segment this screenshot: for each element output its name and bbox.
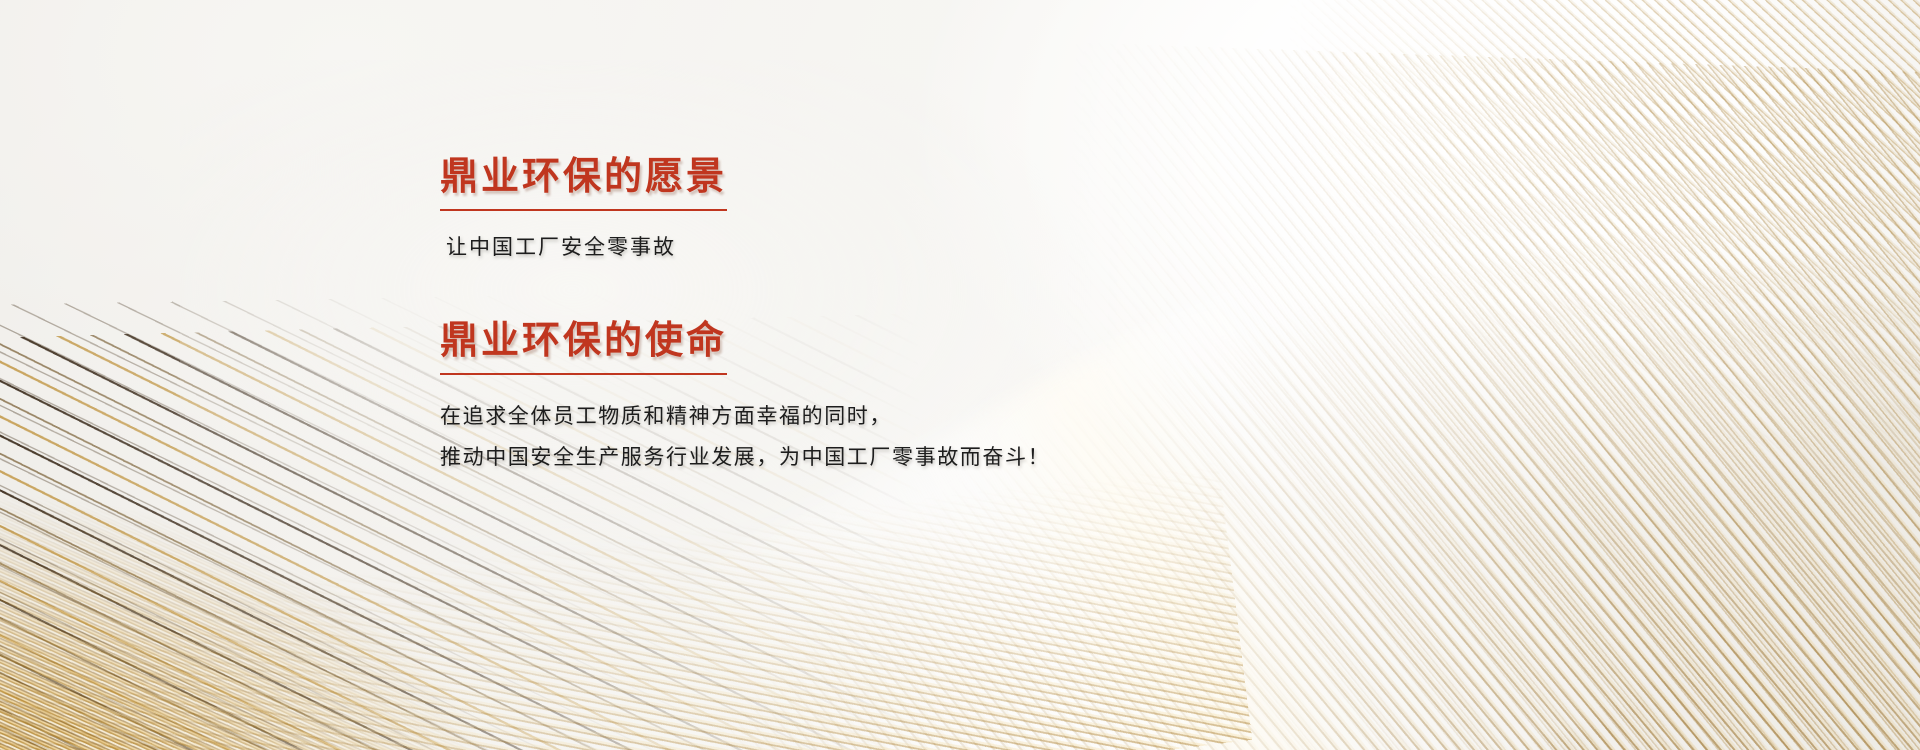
mission-block: 鼎业环保的使命 在追求全体员工物质和精神方面幸福的同时， 推动中国安全生产服务行… <box>440 319 1340 479</box>
mission-body: 在追求全体员工物质和精神方面幸福的同时， 推动中国安全生产服务行业发展，为中国工… <box>440 397 1340 479</box>
mission-line-2: 推动中国安全生产服务行业发展，为中国工厂零事故而奋斗！ <box>440 438 1340 479</box>
mission-line-1: 在追求全体员工物质和精神方面幸福的同时， <box>440 397 1340 438</box>
mission-heading: 鼎业环保的使命 <box>440 319 727 375</box>
vision-mission-banner: 鼎业环保的愿景 让中国工厂安全零事故 鼎业环保的使命 在追求全体员工物质和精神方… <box>0 0 1920 750</box>
vision-block: 鼎业环保的愿景 让中国工厂安全零事故 <box>440 155 1340 261</box>
banner-content: 鼎业环保的愿景 让中国工厂安全零事故 鼎业环保的使命 在追求全体员工物质和精神方… <box>440 155 1340 479</box>
vision-subtitle: 让中国工厂安全零事故 <box>446 231 1340 261</box>
vision-heading: 鼎业环保的愿景 <box>440 155 727 211</box>
